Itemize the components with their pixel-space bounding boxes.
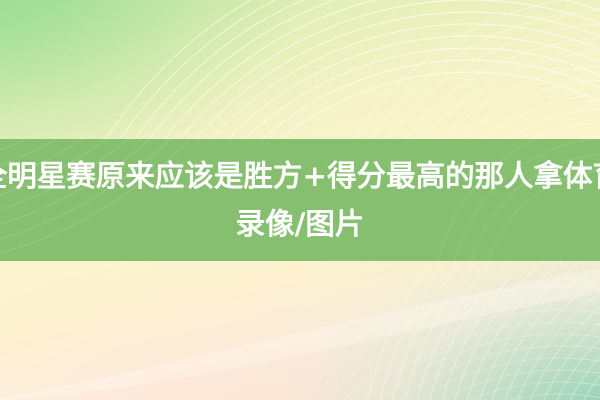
title-line-2: 录像/图片	[236, 200, 365, 248]
title-band: 全明星赛原来应该是胜方+得分最高的那人拿体育 录像/图片	[0, 139, 600, 261]
title-line-1: 全明星赛原来应该是胜方+得分最高的那人拿体育	[0, 152, 600, 200]
screenshot-canvas: 全明星赛原来应该是胜方+得分最高的那人拿体育 录像/图片	[0, 0, 600, 400]
title-text-block: 全明星赛原来应该是胜方+得分最高的那人拿体育 录像/图片	[0, 139, 600, 261]
